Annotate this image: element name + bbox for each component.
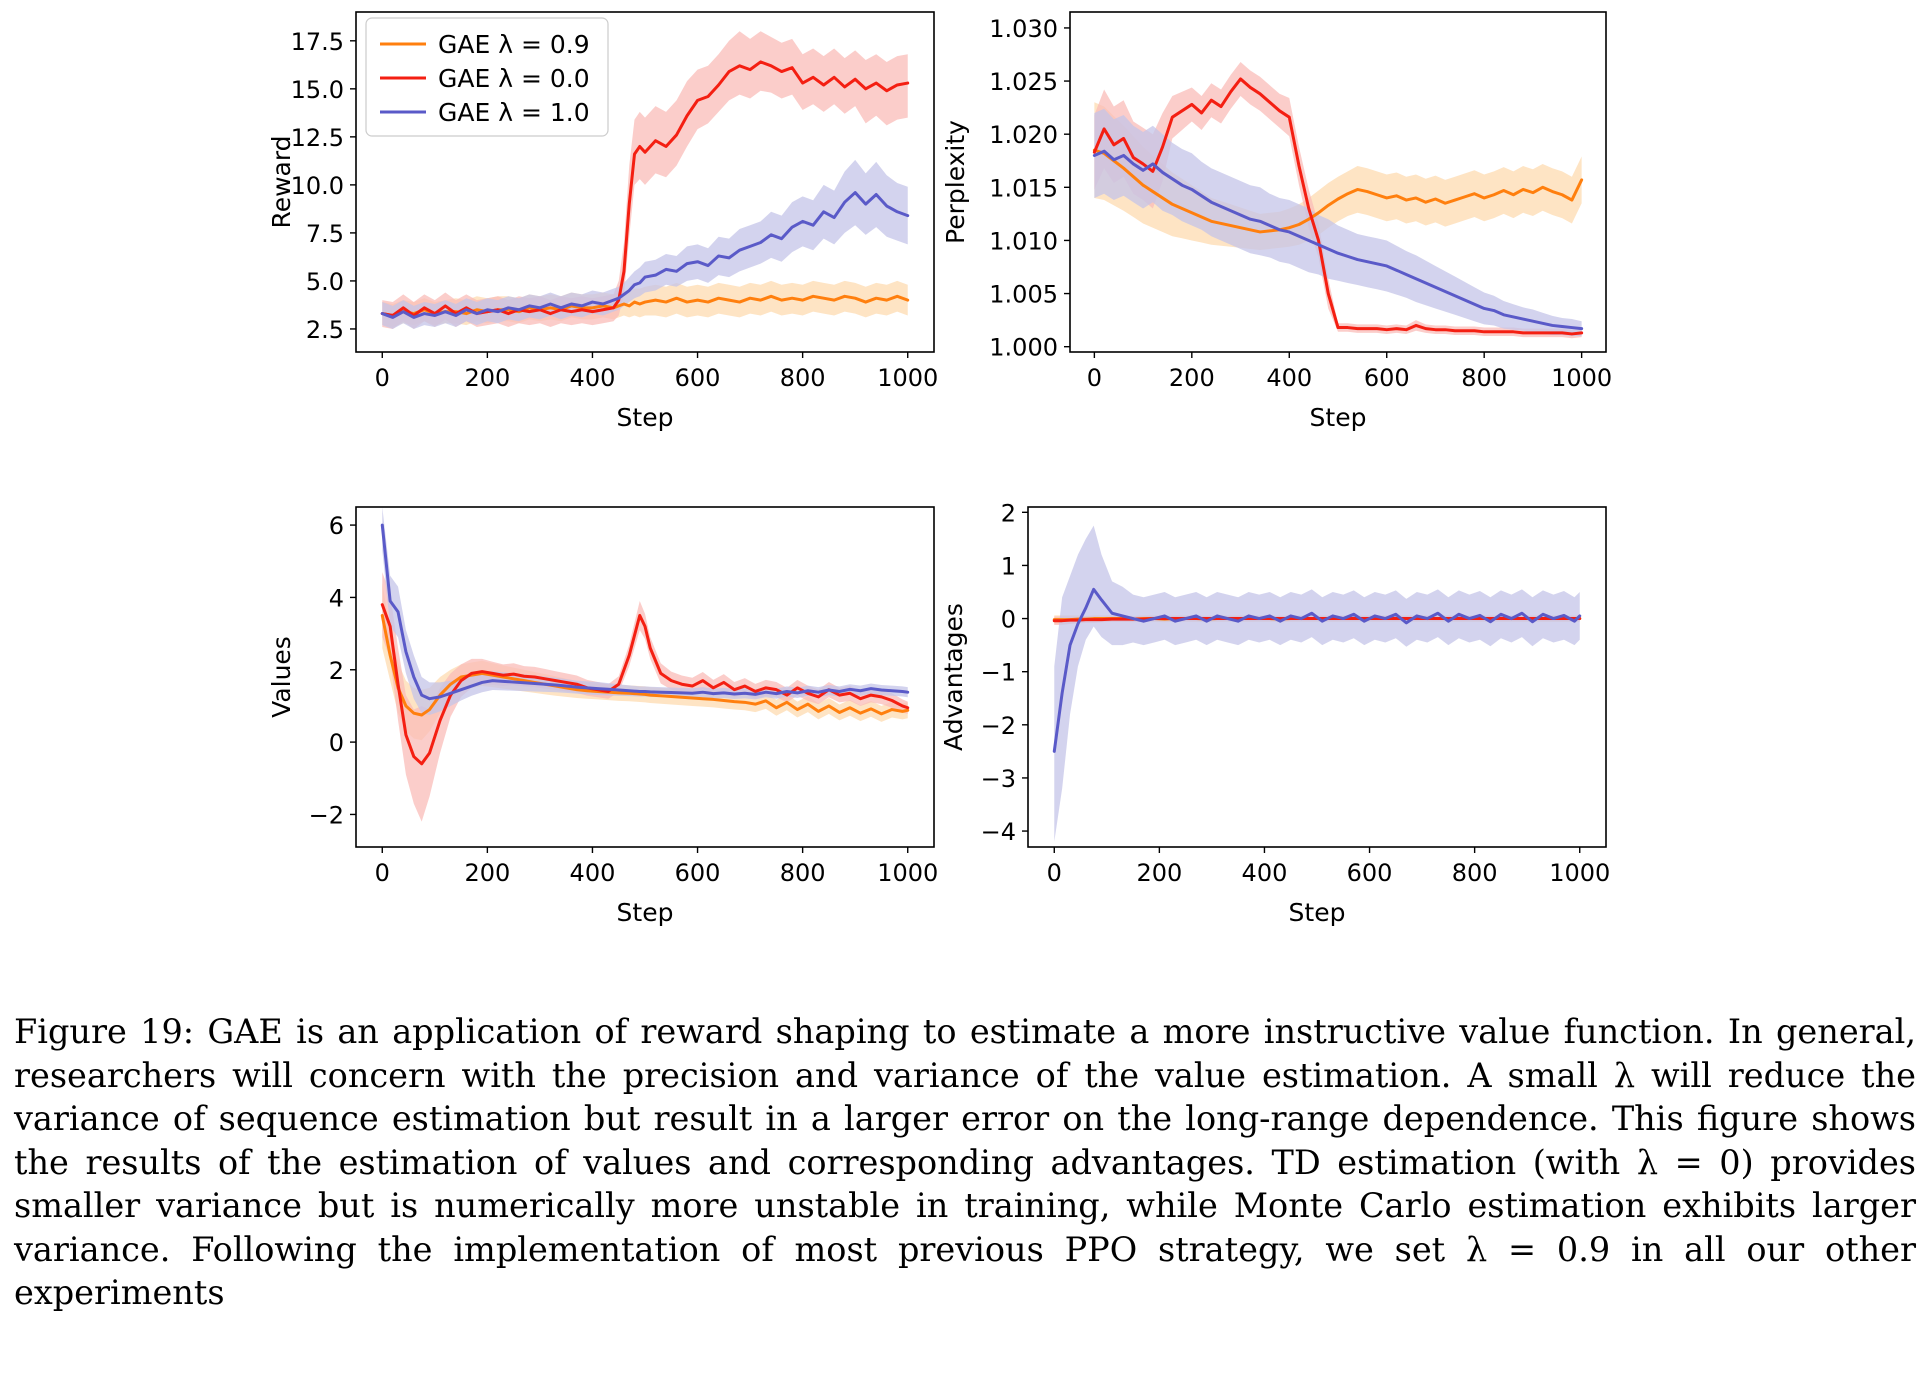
xticklabel-perplexity-2: 400 — [1266, 364, 1312, 392]
yaxis-label-values: Values — [267, 636, 296, 718]
yaxis-label-reward: Reward — [267, 135, 296, 228]
xticklabel-advantages-5: 1000 — [1549, 859, 1610, 887]
xticklabel-reward-4: 800 — [780, 364, 826, 392]
yticklabel-reward-1: 5.0 — [306, 268, 344, 296]
figure-caption-text: Figure 19: GAE is an application of rewa… — [14, 1010, 1916, 1315]
yticklabel-advantages-3: −1 — [981, 659, 1016, 687]
band-advantages-gae-1-0 — [1054, 526, 1579, 842]
yticklabel-advantages-6: 2 — [1001, 499, 1016, 527]
yticklabel-advantages-4: 0 — [1001, 606, 1016, 634]
yticklabel-reward-5: 15.0 — [291, 76, 344, 104]
chart-svg-values: 02004006008001000−20246StepValues — [248, 485, 948, 985]
yticklabel-values-3: 4 — [329, 584, 344, 612]
xticklabel-perplexity-3: 600 — [1364, 364, 1410, 392]
xticklabel-perplexity-4: 800 — [1461, 364, 1507, 392]
chart-svg-reward: 020040060080010002.55.07.510.012.515.017… — [248, 0, 948, 490]
yticklabel-perplexity-1: 1.005 — [989, 281, 1058, 309]
yticklabel-reward-3: 10.0 — [291, 172, 344, 200]
xticklabel-values-3: 600 — [675, 859, 721, 887]
yticklabel-advantages-5: 1 — [1001, 552, 1016, 580]
xticklabel-values-1: 200 — [464, 859, 510, 887]
xticklabel-reward-1: 200 — [464, 364, 510, 392]
chart-svg-perplexity: 020040060080010001.0001.0051.0101.0151.0… — [920, 0, 1620, 490]
yticklabel-perplexity-5: 1.025 — [989, 68, 1058, 96]
xticklabel-advantages-0: 0 — [1047, 859, 1062, 887]
chart-panel-advantages: 02004006008001000−4−3−2−1012StepAdvantag… — [920, 485, 1620, 985]
legend-label-0: GAE λ = 0.9 — [438, 30, 590, 59]
yticklabel-values-0: −2 — [309, 801, 344, 829]
chart-panel-values: 02004006008001000−20246StepValues — [248, 485, 948, 985]
band-values-gae-0-9 — [382, 583, 907, 740]
xticklabel-reward-0: 0 — [375, 364, 390, 392]
yticklabel-reward-6: 17.5 — [291, 28, 344, 56]
yaxis-label-perplexity: Perplexity — [941, 120, 970, 244]
yticklabel-perplexity-0: 1.000 — [989, 334, 1058, 362]
legend-label-1: GAE λ = 0.0 — [438, 64, 590, 93]
chart-panel-reward: 020040060080010002.55.07.510.012.515.017… — [248, 0, 948, 490]
xticklabel-perplexity-0: 0 — [1087, 364, 1102, 392]
xticklabel-advantages-2: 400 — [1242, 859, 1288, 887]
plot-grid: 020040060080010002.55.07.510.012.515.017… — [0, 0, 1929, 985]
figure-19-root: 020040060080010002.55.07.510.012.515.017… — [0, 0, 1929, 1378]
chart-svg-advantages: 02004006008001000−4−3−2−1012StepAdvantag… — [920, 485, 1620, 985]
xaxis-label-values: Step — [617, 898, 674, 927]
yaxis-label-advantages: Advantages — [939, 603, 968, 751]
yticklabel-advantages-1: −3 — [981, 765, 1016, 793]
xticklabel-advantages-1: 200 — [1136, 859, 1182, 887]
xaxis-label-advantages: Step — [1289, 898, 1346, 927]
legend-label-2: GAE λ = 1.0 — [438, 98, 590, 127]
yticklabel-values-4: 6 — [329, 512, 344, 540]
figure-caption: Figure 19: GAE is an application of rewa… — [14, 1010, 1916, 1315]
xticklabel-advantages-4: 800 — [1452, 859, 1498, 887]
xaxis-label-reward: Step — [617, 403, 674, 432]
yticklabel-values-2: 2 — [329, 657, 344, 685]
xticklabel-values-2: 400 — [570, 859, 616, 887]
yticklabel-reward-4: 12.5 — [291, 124, 344, 152]
xticklabel-perplexity-5: 1000 — [1551, 364, 1612, 392]
yticklabel-advantages-2: −2 — [981, 712, 1016, 740]
xticklabel-reward-2: 400 — [570, 364, 616, 392]
xticklabel-values-0: 0 — [375, 859, 390, 887]
xticklabel-advantages-3: 600 — [1347, 859, 1393, 887]
yticklabel-perplexity-6: 1.030 — [989, 15, 1058, 43]
yticklabel-perplexity-4: 1.020 — [989, 121, 1058, 149]
yticklabel-perplexity-2: 1.010 — [989, 227, 1058, 255]
xaxis-label-perplexity: Step — [1310, 403, 1367, 432]
yticklabel-perplexity-3: 1.015 — [989, 174, 1058, 202]
xticklabel-perplexity-1: 200 — [1169, 364, 1215, 392]
axes-frame-advantages — [1028, 507, 1606, 847]
xticklabel-values-4: 800 — [780, 859, 826, 887]
chart-panel-perplexity: 020040060080010001.0001.0051.0101.0151.0… — [920, 0, 1620, 490]
yticklabel-values-1: 0 — [329, 729, 344, 757]
yticklabel-reward-0: 2.5 — [306, 316, 344, 344]
yticklabel-reward-2: 7.5 — [306, 220, 344, 248]
yticklabel-advantages-0: −4 — [981, 818, 1016, 846]
xticklabel-reward-3: 600 — [675, 364, 721, 392]
